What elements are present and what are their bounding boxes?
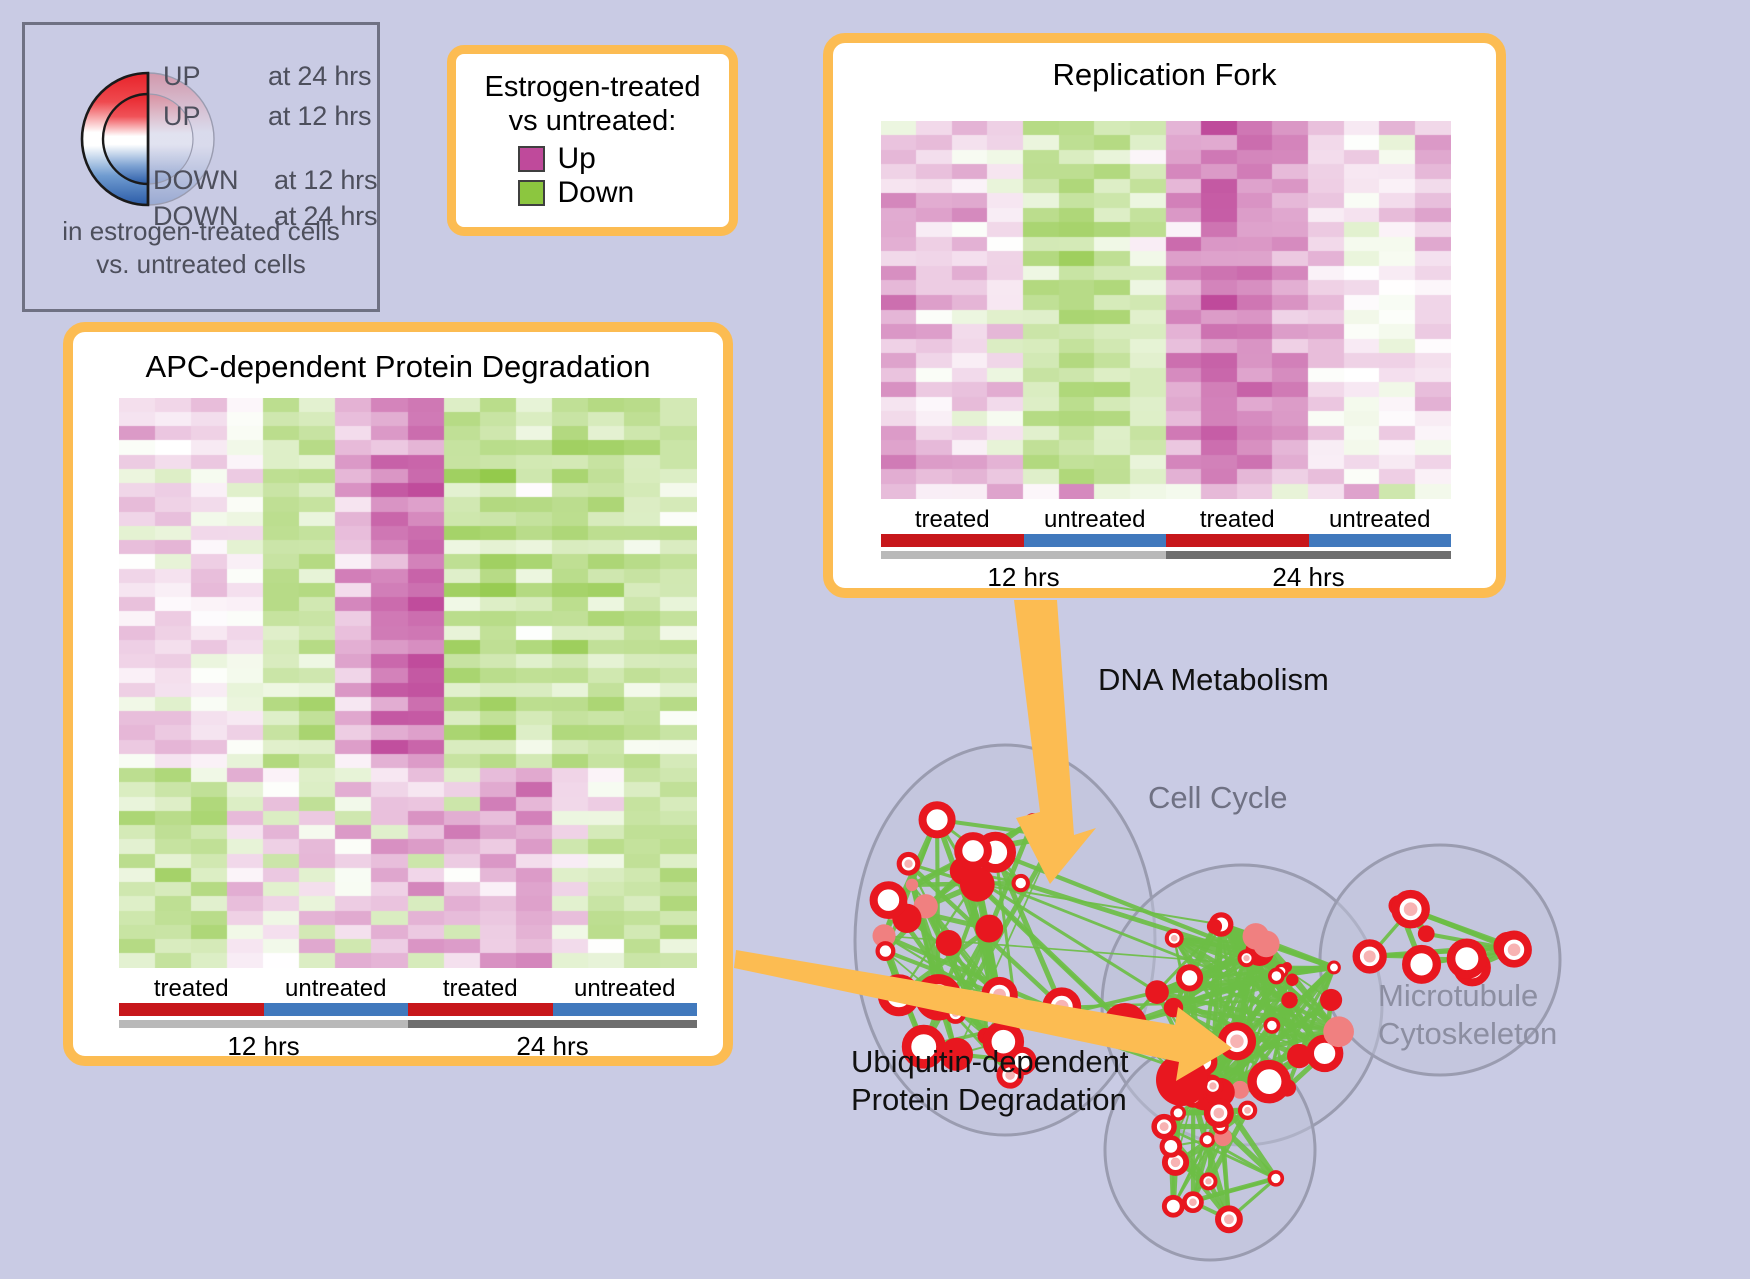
apc-condition-labels: treated untreated treated untreated [119, 975, 697, 1003]
network-node-core [1189, 1198, 1197, 1206]
condition-bar-treated-12 [119, 1003, 264, 1016]
updown-legend-title-line2: vs untreated: [484, 105, 700, 139]
network-node-core [1205, 1178, 1211, 1184]
network-node [975, 915, 1003, 943]
apc-heatmap [119, 398, 697, 968]
down-swatch-icon [518, 180, 545, 206]
network-node-core [1404, 902, 1418, 916]
network-node [936, 930, 962, 956]
panel-replication-fork-title: Replication Fork [833, 57, 1496, 93]
network-node [1050, 830, 1063, 843]
network-node-core [1171, 935, 1178, 942]
colorwheel-row-1-direction: UP [163, 101, 201, 132]
condition-bar-treated-24 [1166, 534, 1309, 547]
up-swatch-icon [518, 146, 545, 172]
network-node-core [1214, 1108, 1225, 1119]
apc-condition-bar [119, 1003, 697, 1016]
legend-item-down-label: Down [558, 176, 635, 210]
colorwheel-caption: in estrogen-treated cells vs. untreated … [25, 215, 377, 282]
network-node-core [1243, 955, 1249, 961]
condition-label: untreated [1309, 506, 1452, 534]
replication-fork-time-bar [881, 551, 1451, 559]
updown-legend-title: Estrogen-treated vs untreated: [484, 71, 700, 138]
time-label: 12 hrs [881, 562, 1166, 593]
network-node-core [1209, 1082, 1216, 1089]
network-node [1252, 1065, 1286, 1099]
pathway-network-diagram [790, 610, 1750, 1279]
replication-fork-time-labels: 12 hrs 24 hrs [881, 562, 1451, 593]
condition-bar-untreated-12 [1024, 534, 1167, 547]
panel-apc-title: APC-dependent Protein Degradation [73, 349, 723, 385]
time-label: 12 hrs [119, 1031, 408, 1062]
colorwheel-caption-line2: vs. untreated cells [25, 248, 377, 281]
network-node-core [993, 989, 1006, 1002]
network-node-core [1244, 1107, 1251, 1114]
updown-legend-card: Estrogen-treated vs untreated: Up Down [447, 45, 738, 236]
apc-heatmap-canvas [119, 398, 697, 968]
network-node-core [930, 989, 946, 1005]
network-node-core [1055, 1000, 1069, 1014]
condition-label: treated [881, 506, 1024, 534]
network-node [1172, 1107, 1184, 1119]
apc-time-labels: 12 hrs 24 hrs [119, 1031, 697, 1062]
condition-label: treated [1166, 506, 1309, 534]
replication-fork-condition-bar [881, 534, 1451, 547]
colorwheel-row-2-direction: DOWN [153, 165, 238, 196]
network-node-core [1508, 944, 1521, 957]
replication-fork-heatmap-canvas [881, 121, 1451, 499]
apc-time-bar [119, 1020, 697, 1028]
network-node [874, 885, 904, 915]
network-node-core [952, 1009, 960, 1017]
cluster-label-ubiquitin-line2: Protein Degradation [851, 1081, 1129, 1119]
network-node-core [1364, 950, 1376, 962]
apc-axis: treated untreated treated untreated 12 h… [119, 975, 697, 1062]
condition-label: untreated [264, 975, 409, 1003]
legend-item-up: Up [518, 142, 708, 176]
network-node [1418, 925, 1435, 942]
network-node-core [1224, 1214, 1234, 1224]
network-node [1406, 949, 1437, 980]
colorwheel-row-1-time: at 12 hrs [268, 101, 371, 132]
legend-item-down: Down [518, 176, 708, 210]
network-node [1179, 967, 1200, 988]
network-node [1281, 992, 1297, 1008]
time-bar-24hrs [408, 1020, 697, 1028]
network-node [1329, 962, 1340, 973]
network-node [1145, 980, 1169, 1004]
network-node [1014, 876, 1028, 890]
network-node [1164, 1197, 1182, 1215]
network-node [958, 836, 988, 866]
network-node [1269, 1172, 1282, 1185]
time-bar-12hrs [119, 1020, 408, 1028]
cluster-label-microtubule-cytoskeleton: Microtubule Cytoskeleton [1378, 977, 1557, 1053]
network-node [1270, 969, 1283, 982]
network-node [1451, 943, 1483, 975]
network-node [1024, 813, 1042, 831]
network-node [1201, 1134, 1213, 1146]
panel-replication-fork: Replication Fork treated untreated treat… [823, 33, 1506, 598]
figure-root: UP at 24 hrs UP at 12 hrs DOWN at 12 hrs… [0, 0, 1750, 1279]
network-node-core [1160, 1122, 1169, 1131]
condition-bar-untreated-12 [264, 1003, 409, 1016]
cluster-label-cell-cycle: Cell Cycle [1148, 780, 1288, 816]
network-node [878, 943, 894, 959]
colorwheel-row-0-direction: UP [163, 61, 201, 92]
condition-label: treated [408, 975, 553, 1003]
cluster-label-microtubule-line2: Cytoskeleton [1378, 1015, 1557, 1053]
network-node [882, 979, 915, 1012]
network-node [923, 805, 952, 834]
network-node-core [1230, 1035, 1244, 1049]
colorwheel-caption-line1: in estrogen-treated cells [25, 215, 377, 248]
legend-item-up-label: Up [558, 142, 596, 176]
network-node [1286, 974, 1298, 986]
network-node [1164, 998, 1184, 1018]
cluster-label-dna-metabolism: DNA Metabolism [1098, 662, 1329, 698]
time-label: 24 hrs [408, 1031, 697, 1062]
condition-label: untreated [1024, 506, 1167, 534]
network-node [1253, 931, 1280, 958]
network-node [1287, 1044, 1311, 1068]
network-node [1103, 1003, 1147, 1047]
cluster-label-microtubule-line1: Microtubule [1378, 977, 1557, 1015]
network-node [1207, 919, 1222, 934]
time-bar-24hrs [1166, 551, 1451, 559]
network-node [1156, 1054, 1208, 1106]
network-node [960, 867, 995, 902]
condition-label: treated [119, 975, 264, 1003]
time-label: 24 hrs [1166, 562, 1451, 593]
network-node [906, 879, 918, 891]
network-node [1323, 1016, 1354, 1047]
replication-fork-condition-labels: treated untreated treated untreated [881, 506, 1451, 534]
network-node [1265, 1019, 1278, 1032]
colorwheel-row-0-time: at 24 hrs [268, 61, 371, 92]
replication-fork-heatmap [881, 121, 1451, 499]
cluster-label-ubiquitin-degradation: Ubiquitin-dependent Protein Degradation [851, 1043, 1129, 1119]
condition-bar-treated-12 [881, 534, 1024, 547]
network-node-core [1171, 1158, 1181, 1168]
time-bar-12hrs [881, 551, 1166, 559]
network-node-core [904, 860, 912, 868]
condition-label: untreated [553, 975, 698, 1003]
updown-legend-title-line1: Estrogen-treated [484, 71, 700, 105]
replication-fork-axis: treated untreated treated untreated 12 h… [881, 506, 1451, 593]
cluster-label-ubiquitin-line1: Ubiquitin-dependent [851, 1043, 1129, 1081]
colorwheel-row-2-time: at 12 hrs [274, 165, 377, 196]
condition-bar-untreated-24 [553, 1003, 698, 1016]
network-node [1320, 989, 1342, 1011]
colorwheel-legend-box: UP at 24 hrs UP at 12 hrs DOWN at 12 hrs… [22, 22, 380, 312]
condition-bar-untreated-24 [1309, 534, 1452, 547]
condition-bar-treated-24 [408, 1003, 553, 1016]
network-node [1162, 1138, 1180, 1156]
panel-apc-dependent-protein-degradation: APC-dependent Protein Degradation treate… [63, 322, 733, 1066]
